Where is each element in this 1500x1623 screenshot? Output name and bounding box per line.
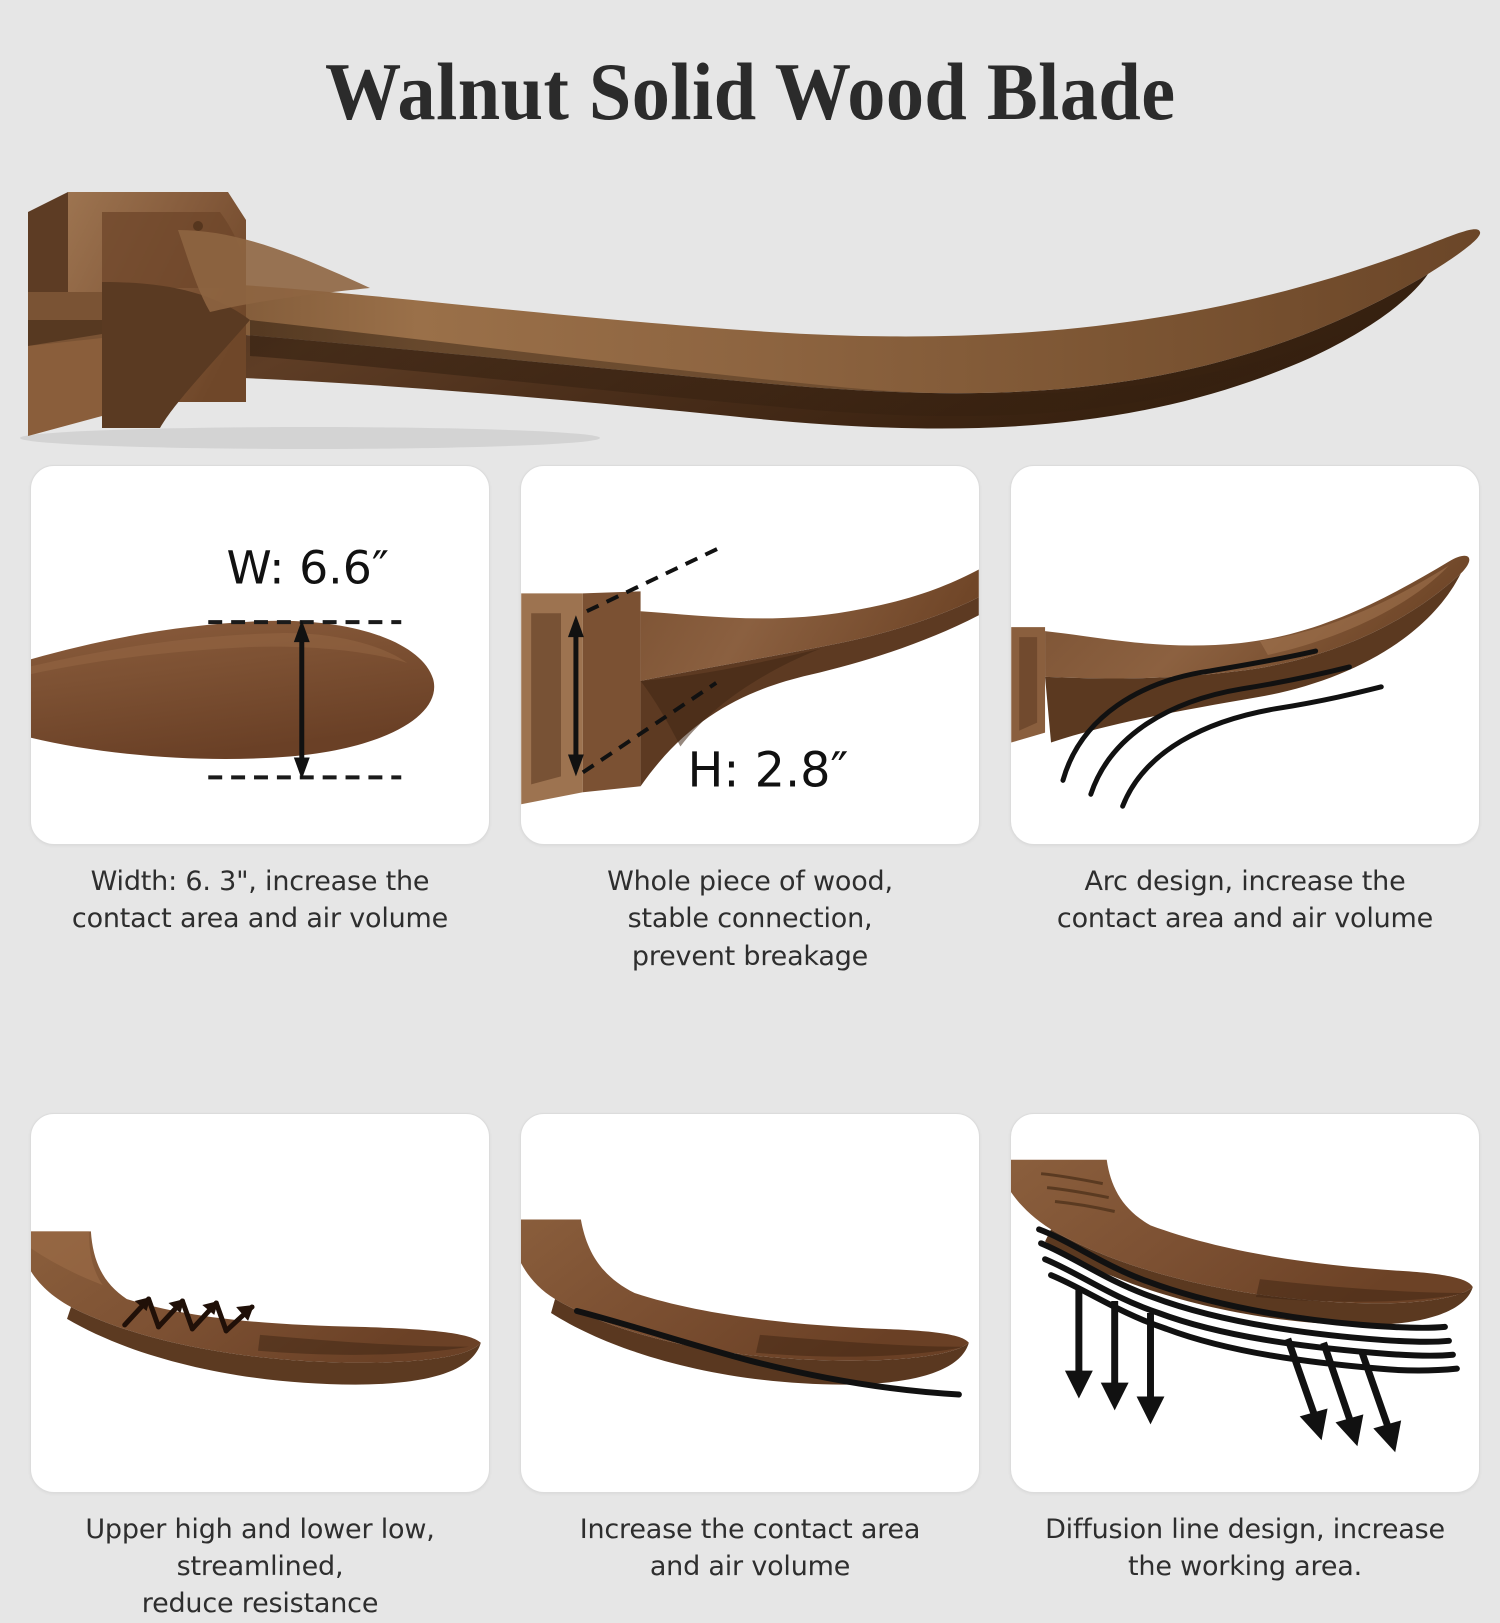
page-title: Walnut Solid Wood Blade — [325, 45, 1176, 139]
diffusion-blade-upper — [1011, 1160, 1473, 1304]
height-leader-top — [587, 548, 720, 612]
feature-cell-arc-design: Arc design, increase the contact area an… — [1010, 465, 1480, 975]
page-header: Walnut Solid Wood Blade — [0, 0, 1500, 170]
blade-diffusion-arrows-icon — [1011, 1114, 1479, 1492]
hero-product-image — [10, 170, 1490, 460]
height-label: H: 2.8″ — [687, 743, 848, 798]
hero-shadow — [20, 427, 600, 449]
root-block-side — [583, 591, 641, 792]
feature-caption-whole-piece: Whole piece of wood, stable connection, … — [607, 863, 893, 975]
root-block-groove — [531, 613, 561, 784]
feature-cell-diffusion-line: Diffusion line design, increase the work… — [1010, 1113, 1480, 1623]
feature-caption-diffusion-line: Diffusion line design, increase the work… — [1045, 1511, 1445, 1586]
feature-caption-arc-design: Arc design, increase the contact area an… — [1057, 863, 1433, 938]
feature-card-diffusion-line[interactable] — [1010, 1113, 1480, 1493]
root-tenon-lower — [28, 338, 102, 436]
feature-caption-width: Width: 6. 3", increase the contact area … — [72, 863, 448, 938]
feature-cell-contact-area: Increase the contact area and air volume — [520, 1113, 980, 1623]
arc-root-groove — [1019, 637, 1037, 731]
feature-panel-grid: W: 6.6″ Width: 6. 3", increase the conta… — [0, 465, 1500, 1623]
streamline-blade-upper — [31, 1231, 481, 1362]
feature-card-width[interactable]: W: 6.6″ — [30, 465, 490, 845]
blade-arc-airflow-icon — [1011, 466, 1479, 844]
blade-tip-top-view-icon: W: 6.6″ — [31, 466, 489, 844]
blade-streamline-arrows-icon — [31, 1114, 489, 1492]
feature-card-contact-area[interactable] — [520, 1113, 980, 1493]
feature-card-arc-design[interactable] — [1010, 465, 1480, 845]
feature-cell-width: W: 6.6″ Width: 6. 3", increase the conta… — [30, 465, 490, 975]
feature-cell-whole-piece: H: 2.8″ Whole piece of wood, stable conn… — [520, 465, 980, 975]
feature-caption-contact-area: Increase the contact area and air volume — [580, 1511, 921, 1586]
hero-blade-illustration — [10, 170, 1490, 460]
root-screw-hole — [193, 221, 203, 231]
feature-caption-streamlined: Upper high and lower low, streamlined, r… — [85, 1511, 434, 1623]
blade-contour-line-icon — [521, 1114, 979, 1492]
feature-card-streamlined[interactable] — [30, 1113, 490, 1493]
feature-card-whole-piece[interactable]: H: 2.8″ — [520, 465, 980, 845]
contour-blade-upper — [521, 1219, 969, 1360]
width-label: W: 6.6″ — [227, 541, 389, 594]
feature-cell-streamlined: Upper high and lower low, streamlined, r… — [30, 1113, 490, 1623]
blade-root-side-view-icon: H: 2.8″ — [521, 466, 979, 844]
